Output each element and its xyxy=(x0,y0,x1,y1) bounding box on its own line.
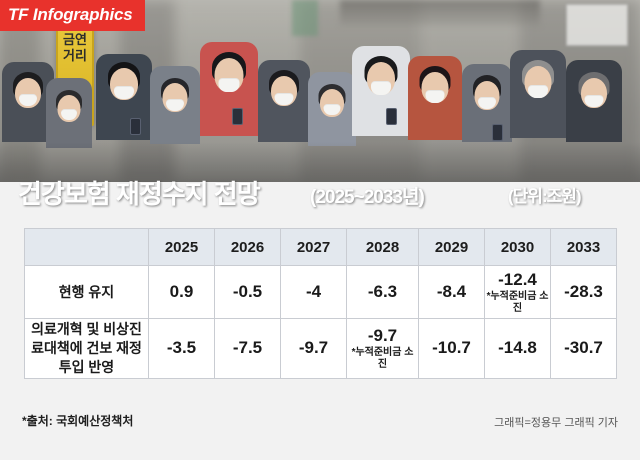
cell-current-2033: -28.3 xyxy=(551,266,617,319)
forecast-table-wrap: 2025 2026 2027 2028 2029 2030 2033 현행 유지… xyxy=(24,228,616,379)
table-head: 2025 2026 2027 2028 2029 2030 2033 xyxy=(25,229,617,266)
no-smoking-street-sign-text: 금연거리 xyxy=(58,32,92,65)
cell-current-2025: 0.9 xyxy=(149,266,215,319)
cell-reform-2030: -14.8 xyxy=(485,319,551,379)
table-row: 현행 유지 0.9 -0.5 -4 -6.3 -8.4 -12.4 *누적준비금… xyxy=(25,266,617,319)
cell-reform-2033: -30.7 xyxy=(551,319,617,379)
cell-reform-2028: -9.7 *누적준비금 소진 xyxy=(347,319,419,379)
title-unit: (단위:조원) xyxy=(508,182,581,207)
cell-reform-2029: -10.7 xyxy=(419,319,485,379)
infographic-page: 금연거리 xyxy=(0,0,640,460)
cell-reform-2028-note: *누적준비금 소진 xyxy=(348,347,417,370)
logo-tf-text: TF xyxy=(8,5,28,24)
source-note: *출처: 국회예산정책처 xyxy=(22,412,133,429)
logo-infographics-text: Infographics xyxy=(28,5,132,24)
column-header-2033: 2033 xyxy=(551,229,617,266)
cell-current-2030: -12.4 *누적준비금 소진 xyxy=(485,266,551,319)
title-period: (2025~2033년) xyxy=(310,182,424,209)
photo-green-sign xyxy=(292,0,318,36)
row-label-reform: 의료개혁 및 비상진료대책에 건보 재정 투입 반영 xyxy=(25,319,149,379)
cell-reform-2026: -7.5 xyxy=(215,319,281,379)
cell-current-2030-note: *누적준비금 소진 xyxy=(486,291,549,314)
table-body: 현행 유지 0.9 -0.5 -4 -6.3 -8.4 -12.4 *누적준비금… xyxy=(25,266,617,379)
photo-white-sign xyxy=(566,4,628,46)
tf-infographics-logo: TF Infographics xyxy=(0,0,145,31)
cell-current-2026: -0.5 xyxy=(215,266,281,319)
cell-reform-2025: -3.5 xyxy=(149,319,215,379)
column-header-2030: 2030 xyxy=(485,229,551,266)
forecast-table: 2025 2026 2027 2028 2029 2030 2033 현행 유지… xyxy=(24,228,617,379)
cell-current-2027: -4 xyxy=(281,266,347,319)
table-row: 의료개혁 및 비상진료대책에 건보 재정 투입 반영 -3.5 -7.5 -9.… xyxy=(25,319,617,379)
table-header-row: 2025 2026 2027 2028 2029 2030 2033 xyxy=(25,229,617,266)
cell-reform-2028-value: -9.7 xyxy=(368,326,397,345)
column-header-2028: 2028 xyxy=(347,229,419,266)
photo-awning xyxy=(340,0,540,26)
column-header-2029: 2029 xyxy=(419,229,485,266)
page-title: 건강보험 재정수지 전망 xyxy=(18,174,260,211)
cell-current-2029: -8.4 xyxy=(419,266,485,319)
column-header-2026: 2026 xyxy=(215,229,281,266)
title-bar: 건강보험 재정수지 전망 (2025~2033년) (단위:조원) xyxy=(0,174,640,210)
cell-reform-2027: -9.7 xyxy=(281,319,347,379)
cell-current-2028: -6.3 xyxy=(347,266,419,319)
row-label-current: 현행 유지 xyxy=(25,266,149,319)
column-header-2025: 2025 xyxy=(149,229,215,266)
column-header-2027: 2027 xyxy=(281,229,347,266)
graphic-credit: 그래픽=정용무 그래픽 기자 xyxy=(494,414,618,430)
cell-current-2030-value: -12.4 xyxy=(498,270,537,289)
table-corner-header xyxy=(25,229,149,266)
